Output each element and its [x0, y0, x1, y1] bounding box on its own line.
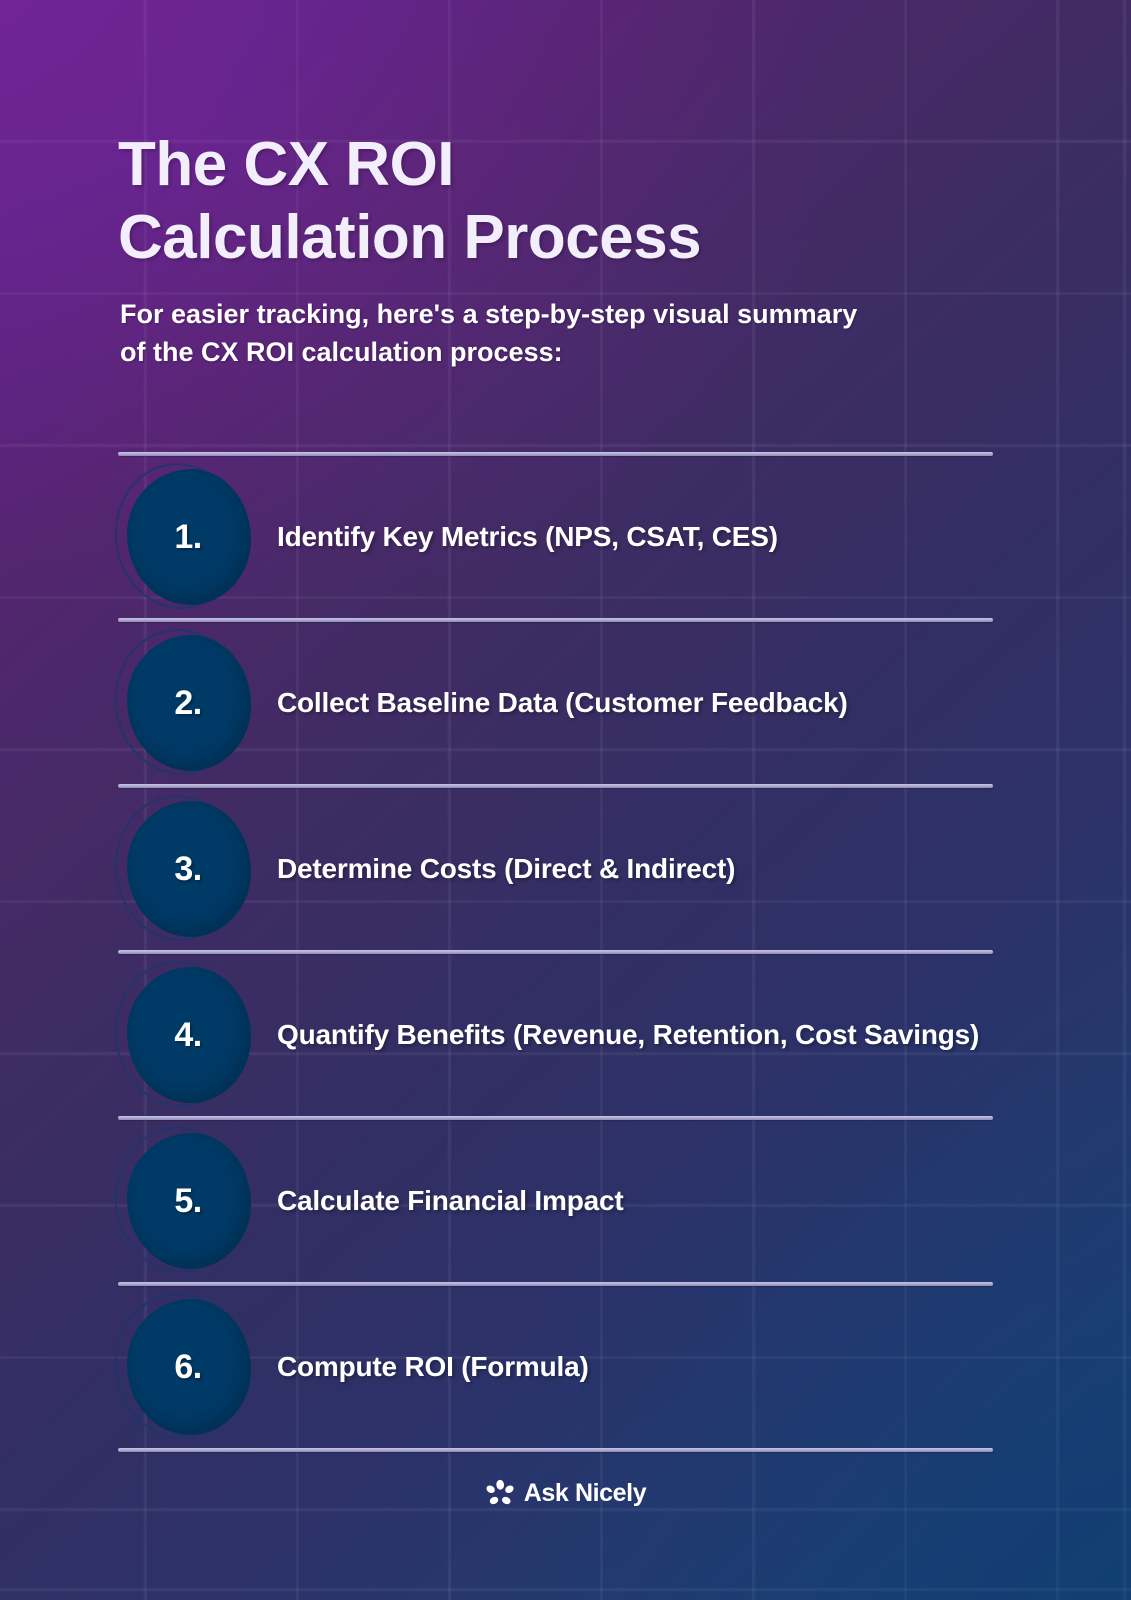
step-label: Compute ROI (Formula) [251, 1348, 993, 1386]
step-number-badge: 4. [113, 961, 251, 1109]
poster-content: The CX ROI Calculation Process For easie… [0, 0, 1131, 1600]
steps-list: 1. Identify Key Metrics (NPS, CSAT, CES)… [118, 452, 993, 1452]
step-number: 3. [174, 850, 201, 889]
list-item: 1. Identify Key Metrics (NPS, CSAT, CES) [118, 456, 993, 618]
step-number: 2. [174, 684, 201, 723]
divider [118, 1448, 993, 1452]
step-label: Collect Baseline Data (Customer Feedback… [251, 684, 993, 722]
step-number-badge: 1. [113, 463, 251, 611]
step-number: 5. [174, 1182, 201, 1221]
step-number: 6. [174, 1348, 201, 1387]
infographic-poster: The CX ROI Calculation Process For easie… [0, 0, 1131, 1600]
list-item: 5. Calculate Financial Impact [118, 1120, 993, 1282]
list-item: 4. Quantify Benefits (Revenue, Retention… [118, 954, 993, 1116]
step-number-badge: 6. [113, 1293, 251, 1441]
step-label: Identify Key Metrics (NPS, CSAT, CES) [251, 518, 993, 556]
step-label: Quantify Benefits (Revenue, Retention, C… [251, 1016, 993, 1054]
footer-brand: Ask Nicely [0, 1478, 1131, 1508]
step-label: Calculate Financial Impact [251, 1182, 993, 1220]
brand-name: Ask Nicely [524, 1481, 646, 1506]
header: The CX ROI Calculation Process For easie… [118, 128, 1018, 371]
step-number: 4. [174, 1016, 201, 1055]
list-item: 3. Determine Costs (Direct & Indirect) [118, 788, 993, 950]
step-number-badge: 5. [113, 1127, 251, 1275]
page-title: The CX ROI Calculation Process [118, 128, 1018, 274]
step-number-badge: 2. [113, 629, 251, 777]
step-number: 1. [174, 518, 201, 557]
list-item: 6. Compute ROI (Formula) [118, 1286, 993, 1448]
list-item: 2. Collect Baseline Data (Customer Feedb… [118, 622, 993, 784]
step-number-badge: 3. [113, 795, 251, 943]
asknicely-flower-icon [485, 1478, 515, 1508]
page-subtitle: For easier tracking, here's a step-by-st… [120, 296, 880, 371]
step-label: Determine Costs (Direct & Indirect) [251, 850, 993, 888]
